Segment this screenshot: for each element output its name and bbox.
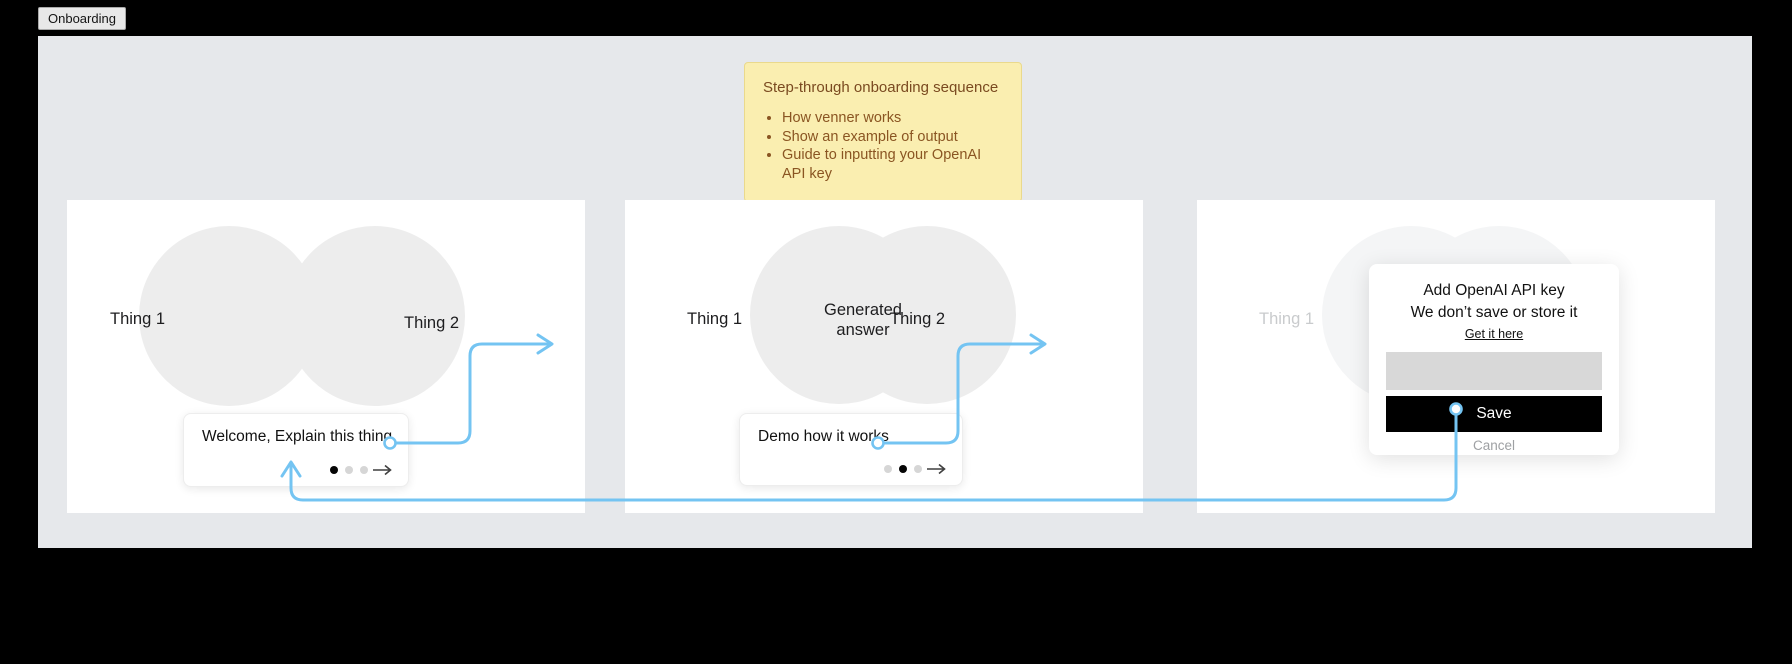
- app-root: Onboarding Step-through onboarding seque…: [0, 0, 1792, 664]
- venn-label-left: Thing 1: [687, 310, 742, 329]
- prompt-box[interactable]: Welcome, Explain this thing.: [183, 413, 409, 487]
- save-button[interactable]: Save: [1386, 396, 1602, 432]
- tab-label: Onboarding: [48, 11, 116, 26]
- step-dot[interactable]: [914, 465, 922, 473]
- venn-label-left: Thing 1: [110, 310, 165, 329]
- step-dot[interactable]: [899, 465, 907, 473]
- step-dot[interactable]: [345, 466, 353, 474]
- note-bullet: Show an example of output: [782, 128, 1003, 147]
- note-bullet-list: How venner works Show an example of outp…: [763, 109, 1003, 183]
- venn-label-left: Thing 1: [1259, 310, 1314, 329]
- cancel-button[interactable]: Cancel: [1386, 438, 1602, 453]
- step-dots[interactable]: [330, 466, 368, 474]
- prompt-text: Demo how it works: [758, 428, 889, 446]
- onboarding-card-2[interactable]: Thing 1 Thing 2 Generated answer Demo ho…: [625, 200, 1143, 513]
- sticky-note[interactable]: Step-through onboarding sequence How ven…: [744, 62, 1022, 202]
- tab-onboarding[interactable]: Onboarding: [38, 7, 126, 30]
- onboarding-card-1[interactable]: Thing 1 Thing 2 Welcome, Explain this th…: [67, 200, 585, 513]
- api-key-modal[interactable]: Add OpenAI API key We don’t save or stor…: [1369, 264, 1619, 455]
- modal-title: Add OpenAI API key: [1386, 280, 1602, 302]
- next-arrow-icon[interactable]: [373, 463, 397, 477]
- api-key-input[interactable]: [1386, 352, 1602, 390]
- modal-subtitle: We don’t save or store it: [1386, 302, 1602, 324]
- note-title: Step-through onboarding sequence: [763, 78, 1003, 97]
- step-dot[interactable]: [360, 466, 368, 474]
- next-arrow-icon[interactable]: [927, 462, 951, 476]
- step-dots[interactable]: [884, 465, 922, 473]
- design-canvas[interactable]: Step-through onboarding sequence How ven…: [38, 36, 1752, 548]
- prompt-box[interactable]: Demo how it works: [739, 413, 963, 486]
- venn-label-right: Thing 2: [404, 314, 459, 333]
- step-dot[interactable]: [884, 465, 892, 473]
- prompt-text: Welcome, Explain this thing.: [202, 428, 396, 446]
- note-bullet: How venner works: [782, 109, 1003, 128]
- venn-label-center: Generated answer: [801, 300, 925, 340]
- note-bullet: Guide to inputting your OpenAI API key: [782, 146, 1003, 183]
- step-dot[interactable]: [330, 466, 338, 474]
- get-key-link[interactable]: Get it here: [1465, 327, 1523, 341]
- venn-circle-left: [139, 226, 319, 406]
